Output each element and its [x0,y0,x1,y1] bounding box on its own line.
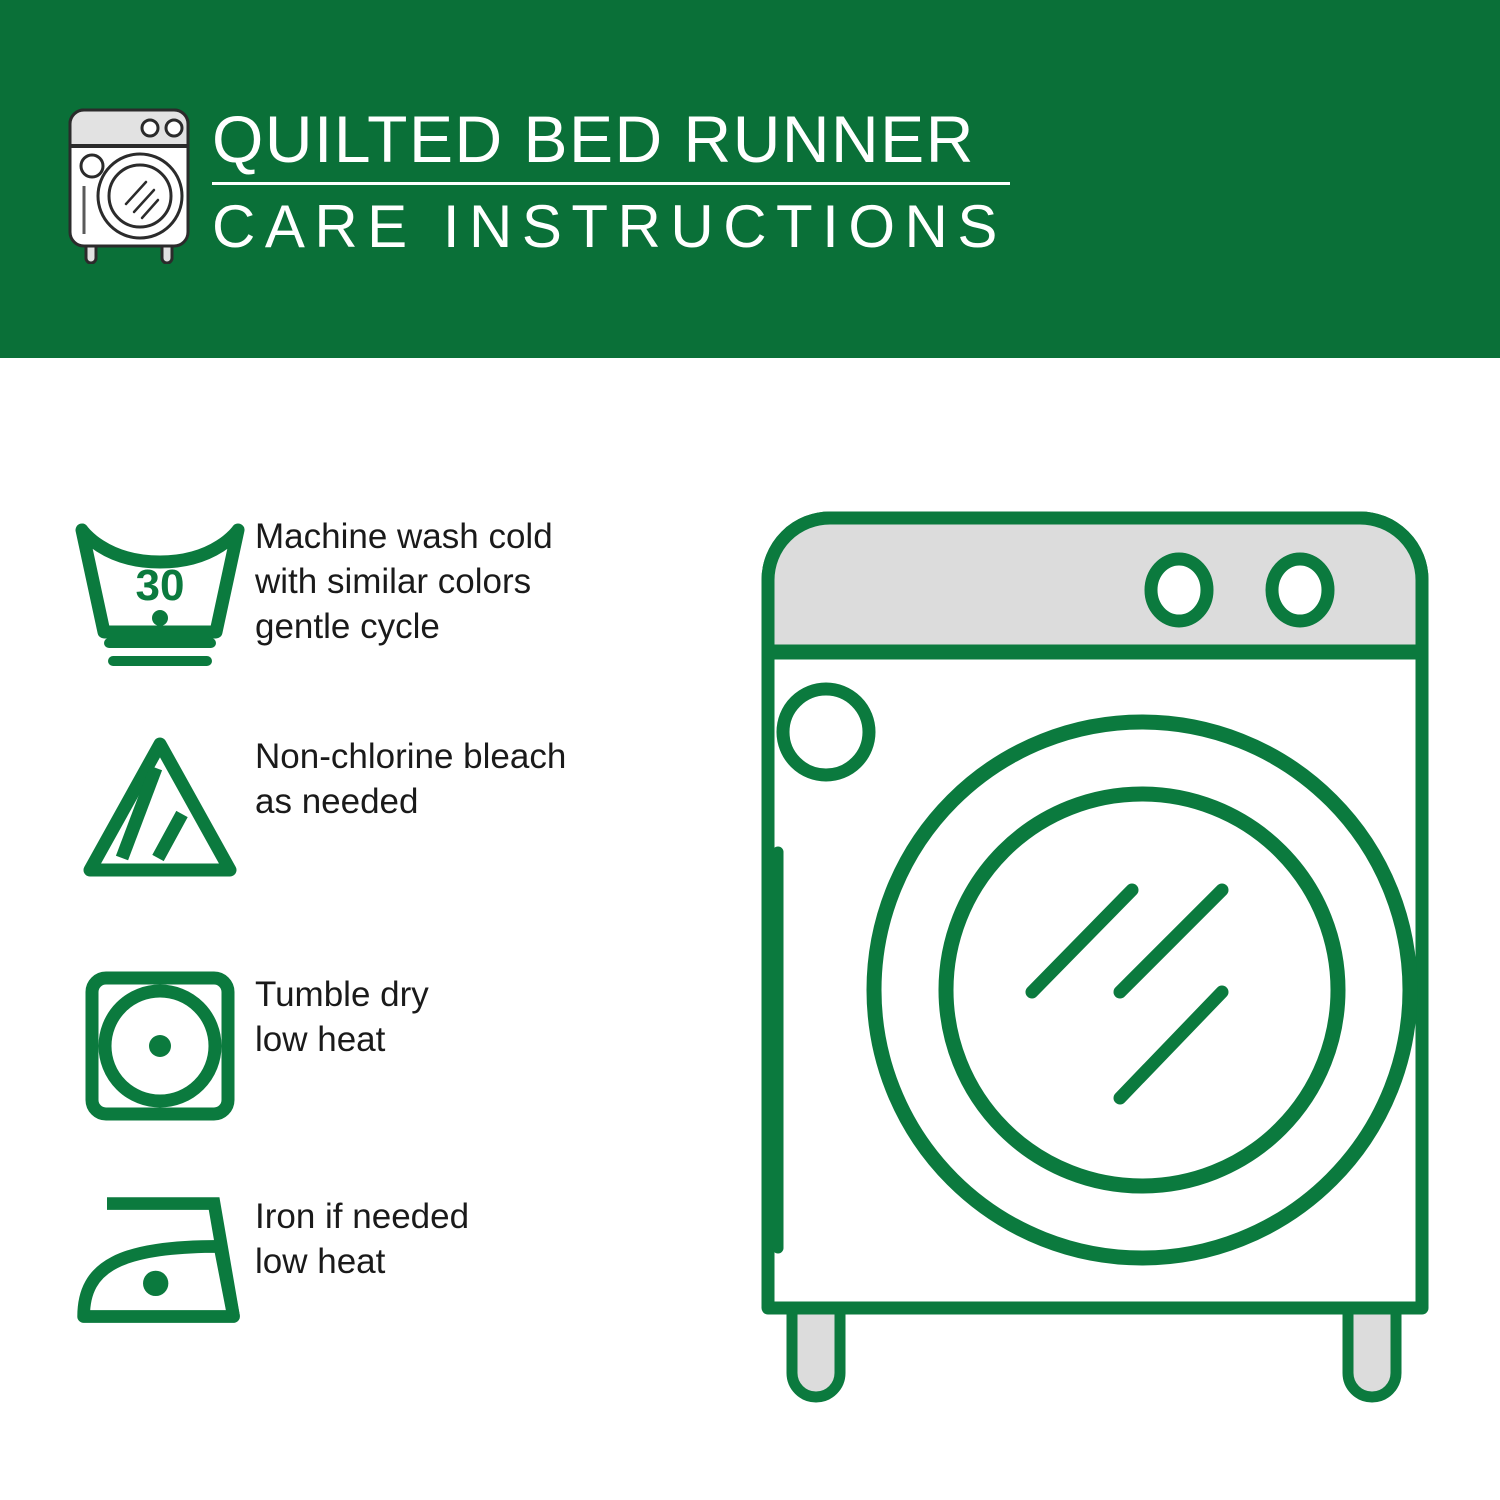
washer-knob-right [1272,559,1328,621]
care-instruction-label: Tumble dry low heat [255,966,429,1062]
care-instruction-row: Tumble dry low heat [70,966,670,1126]
care-instruction-label: Machine wash cold with similar colors ge… [255,508,553,649]
care-instruction-list: 30 Machine wash cold with similar colors… [0,358,700,1500]
washer-knob-left [1151,559,1207,621]
non-chlorine-bleach-triangle-icon [70,728,255,888]
care-instruction-label: Non-chlorine bleach as needed [255,728,566,824]
washer-drum-inner-ring [946,794,1338,1186]
wash-tub-30-gentle-icon: 30 [70,508,255,668]
washing-machine-logo-icon [62,104,204,264]
care-instruction-row: Iron if needed low heat [70,1188,670,1333]
detergent-dispenser-icon [783,689,869,775]
page-title: QUILTED BED RUNNER [212,100,1032,178]
header-band: QUILTED BED RUNNER CARE INSTRUCTIONS [0,0,1500,358]
care-instruction-row: 30 Machine wash cold with similar colors… [70,508,670,668]
washer-legs [792,1305,1396,1397]
care-instruction-row: Non-chlorine bleach as needed [70,728,670,888]
front-load-washing-machine-illustration [730,480,1470,1430]
page-subtitle: CARE INSTRUCTIONS [212,191,1032,263]
wash-temperature-value: 30 [136,561,185,610]
title-divider [212,182,1010,185]
care-instruction-label: Iron if needed low heat [255,1188,469,1284]
tumble-dry-low-heat-icon [70,966,255,1126]
header-text-block: QUILTED BED RUNNER CARE INSTRUCTIONS [212,100,1032,263]
iron-low-heat-icon [70,1188,255,1333]
